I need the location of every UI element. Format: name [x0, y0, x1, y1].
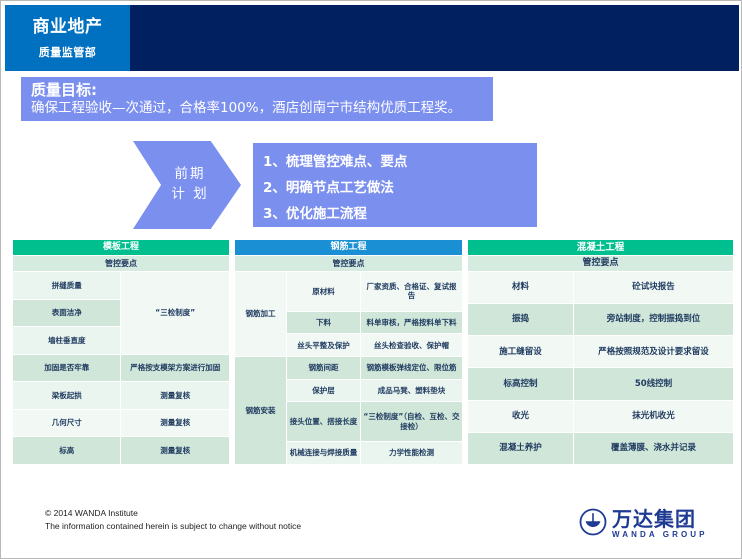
table-cell-item: 几何尺寸 — [13, 409, 121, 437]
table-cell-item: 材料 — [467, 272, 573, 304]
plan-item: 2、明确节点工艺做法 — [263, 175, 537, 201]
header-subtitle: 质量监管部 — [39, 44, 97, 60]
wanda-logo-en: WANDA GROUP — [612, 531, 708, 539]
table-cell-measure: 严格按照规范及设计要求留设 — [573, 336, 733, 368]
table-cell-measure: “三检制度”（自检、互检、交接检） — [360, 402, 462, 442]
table-cell-item: 混凝土养护 — [467, 432, 573, 464]
table-cell-item: 标高 — [13, 437, 121, 465]
table-concrete-title: 混凝土工程 — [467, 240, 733, 256]
footer-notice: The information contained herein is subj… — [45, 520, 301, 533]
table-cell-measure: 严格按支模架方案进行加固 — [121, 354, 230, 382]
plan-item: 1、梳理管控难点、要点 — [263, 149, 537, 175]
table-row: 标高控制 50线控制 — [467, 368, 733, 400]
table-row: 收光 抹光机收光 — [467, 400, 733, 432]
table-cell-item: 拼缝质量 — [13, 272, 121, 300]
table-row: 加固是否牢靠 严格按支模架方案进行加固 — [13, 354, 230, 382]
table-cell-measure: 覆盖薄膜、浇水并记录 — [573, 432, 733, 464]
table-cell-measure: 厂家资质、合格证、复试报告 — [360, 272, 462, 312]
table-row: 钢筋安装 钢筋间距 钢筋模板弹线定位、限位筋 — [234, 357, 462, 380]
table-concrete-subheader: 管控要点 — [467, 256, 733, 272]
quality-goal-banner: 质量目标: 确保工程验收—次通过，合格率100%，酒店创南宁市结构优质工程奖。 — [21, 77, 493, 121]
wanda-logo-cn: 万达集团 — [612, 509, 708, 529]
table-rebar-subheader: 管控要点 — [234, 256, 462, 272]
table-cell-item: 原材料 — [286, 272, 360, 312]
table-cell-measure: “三检制度” — [121, 272, 230, 355]
table-formwork-title: 模板工程 — [13, 240, 230, 256]
quality-goal-label: 质量目标: — [31, 81, 483, 100]
table-cell-item: 下料 — [286, 311, 360, 334]
table-cell-item: 墙柱垂直度 — [13, 327, 121, 355]
table-cell-item: 施工缝留设 — [467, 336, 573, 368]
table-cell-measure: 钢筋模板弹线定位、限位筋 — [360, 357, 462, 380]
table-cell-measure: 抹光机收光 — [573, 400, 733, 432]
table-cell-item: 丝头平整及保护 — [286, 334, 360, 357]
table-cell-measure: 力学性能检测 — [360, 442, 462, 465]
table-rebar-title: 钢筋工程 — [234, 240, 462, 256]
table-cell-item: 钢筋间距 — [286, 357, 360, 380]
table-cell-measure: 料单审核，严格按料单下料 — [360, 311, 462, 334]
table-cell-item: 加固是否牢靠 — [13, 354, 121, 382]
table-cell-item: 振捣 — [467, 304, 573, 336]
table-row: 钢筋加工 原材料 厂家资质、合格证、复试报告 — [234, 272, 462, 312]
table-rebar: 钢筋工程 管控要点 钢筋加工 原材料 厂家资质、合格证、复试报告 下料 料单审核… — [234, 239, 463, 465]
table-cell-measure: 测量复核 — [121, 437, 230, 465]
table-row: 施工缝留设 严格按照规范及设计要求留设 — [467, 336, 733, 368]
table-cell-measure: 砼试块报告 — [573, 272, 733, 304]
table-cell-item: 机械连接与焊接质量 — [286, 442, 360, 465]
table-row: 标高 测量复核 — [13, 437, 230, 465]
table-row: 振捣 旁站制度，控制振捣到位 — [467, 304, 733, 336]
table-cell-item: 表面洁净 — [13, 299, 121, 327]
table-cell-measure: 测量复核 — [121, 409, 230, 437]
table-cell-item: 梁板起拱 — [13, 382, 121, 410]
slide-canvas: 商业地产 质量监管部 质量目标: 确保工程验收—次通过，合格率100%，酒店创南… — [0, 0, 742, 559]
plan-items-box: 1、梳理管控难点、要点 2、明确节点工艺做法 3、优化施工流程 — [253, 143, 537, 227]
table-row: 梁板起拱 测量复核 — [13, 382, 230, 410]
table-row: 几何尺寸 测量复核 — [13, 409, 230, 437]
table-cell-measure: 成品马凳、塑料垫块 — [360, 379, 462, 402]
plan-item: 3、优化施工流程 — [263, 201, 537, 227]
table-cell-measure: 丝头检查验收、保护帽 — [360, 334, 462, 357]
table-cell-group: 钢筋加工 — [234, 272, 286, 357]
header-title: 商业地产 — [33, 18, 103, 38]
wanda-group-logo: 万达集团 WANDA GROUP — [579, 504, 725, 544]
table-formwork: 模板工程 管控要点 拼缝质量 “三检制度” 表面洁净 墙柱垂直度 加固是否牢靠 … — [12, 239, 230, 465]
quality-goal-text: 确保工程验收—次通过，合格率100%，酒店创南宁市结构优质工程奖。 — [31, 100, 483, 118]
table-concrete: 混凝土工程 管控要点 材料 砼试块报告 振捣 旁站制度，控制振捣到位 施工缝留设… — [467, 239, 734, 465]
control-points-tables: 模板工程 管控要点 拼缝质量 “三检制度” 表面洁净 墙柱垂直度 加固是否牢靠 … — [12, 239, 734, 465]
table-cell-item: 标高控制 — [467, 368, 573, 400]
phase-arrow-line-2: 计 划 — [165, 185, 208, 205]
table-row: 拼缝质量 “三检制度” — [13, 272, 230, 300]
header-brand-block: 商业地产 质量监管部 — [5, 5, 130, 71]
footer-copyright: © 2014 WANDA Institute — [45, 507, 301, 520]
table-row: 混凝土养护 覆盖薄膜、浇水并记录 — [467, 432, 733, 464]
table-cell-group: 钢筋安装 — [234, 357, 286, 465]
table-row: 材料 砼试块报告 — [467, 272, 733, 304]
wanda-emblem-icon — [579, 508, 607, 540]
wanda-logo-text: 万达集团 WANDA GROUP — [612, 509, 708, 539]
table-cell-item: 收光 — [467, 400, 573, 432]
footer-legal: © 2014 WANDA Institute The information c… — [45, 507, 301, 533]
table-cell-item: 接头位置、搭接长度 — [286, 402, 360, 442]
phase-arrow-shape: 前期 计 划 — [133, 141, 241, 229]
table-cell-measure: 测量复核 — [121, 382, 230, 410]
phase-arrow-line-1: 前期 — [169, 165, 206, 185]
table-cell-item: 保护层 — [286, 379, 360, 402]
table-cell-measure: 50线控制 — [573, 368, 733, 400]
table-formwork-subheader: 管控要点 — [13, 256, 230, 272]
table-cell-measure: 旁站制度，控制振捣到位 — [573, 304, 733, 336]
